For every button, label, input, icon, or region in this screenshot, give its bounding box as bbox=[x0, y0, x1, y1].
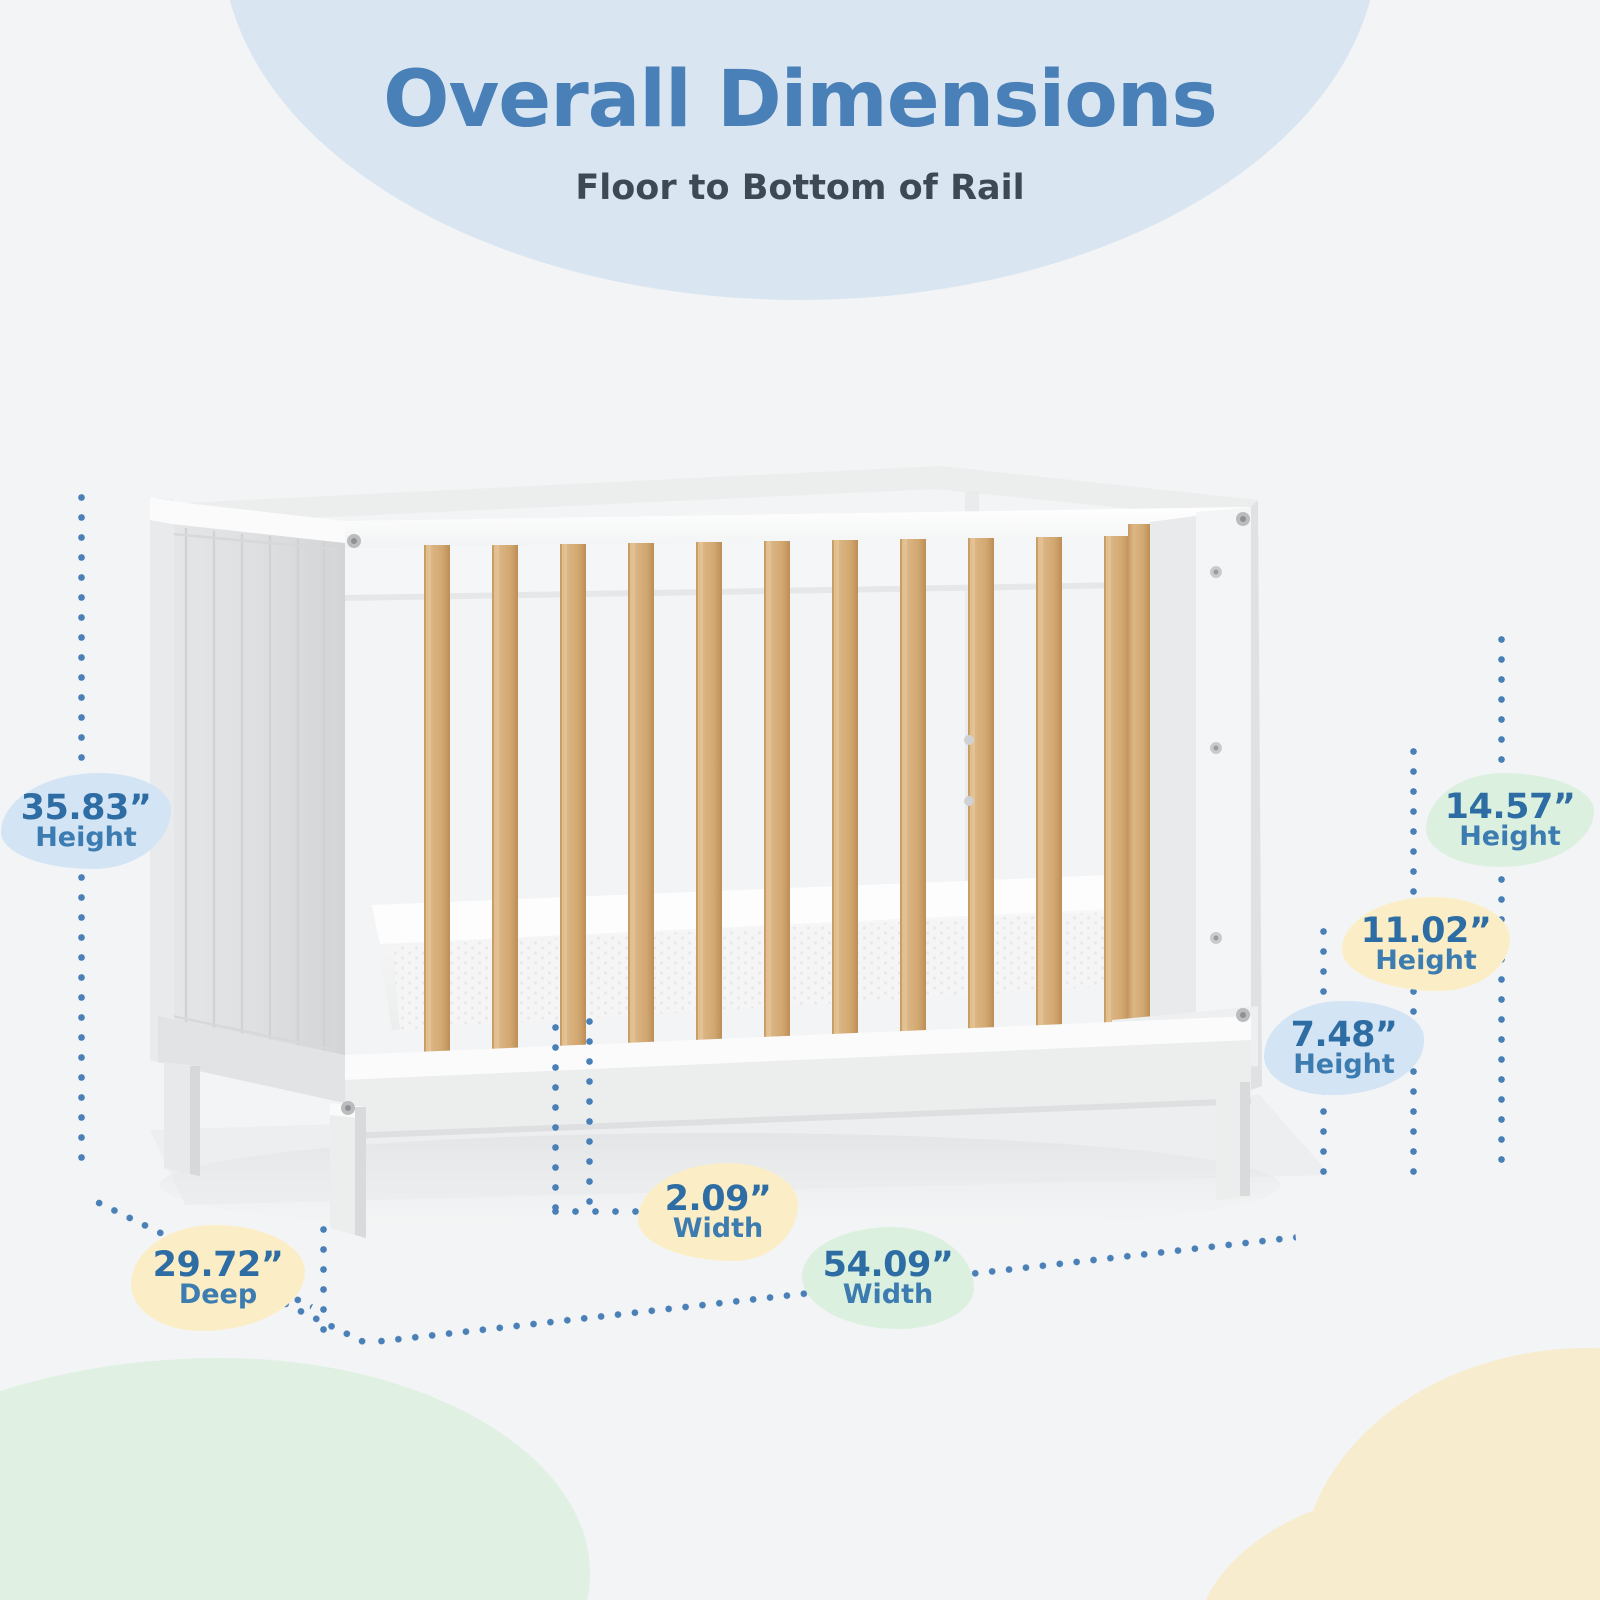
dimension-value: 7.48” bbox=[1291, 1018, 1398, 1053]
dimension-unit: Width bbox=[673, 1215, 764, 1242]
infographic-canvas: Overall Dimensions Floor to Bottom of Ra… bbox=[0, 0, 1600, 1600]
dimension-unit: Height bbox=[1375, 947, 1477, 974]
dimension-unit: Height bbox=[1459, 823, 1561, 850]
dimension-label-overall-depth: 29.72” Deep bbox=[130, 1224, 306, 1332]
dimension-value: 54.09” bbox=[823, 1248, 954, 1283]
dimension-value: 29.72” bbox=[153, 1248, 284, 1283]
dimension-value: 11.02” bbox=[1361, 914, 1492, 949]
dimension-label-height-11-02: 11.02” Height bbox=[1340, 896, 1512, 992]
dimension-label-overall-height: 35.83” Height bbox=[0, 772, 172, 870]
dimension-unit: Deep bbox=[179, 1281, 257, 1308]
dimension-value: 2.09” bbox=[665, 1182, 772, 1217]
crib-product-illustration bbox=[0, 0, 1600, 1600]
dimension-label-height-14-57: 14.57” Height bbox=[1424, 772, 1596, 868]
dimension-label-slat-width: 2.09” Width bbox=[636, 1162, 800, 1262]
dimension-value: 14.57” bbox=[1445, 790, 1576, 825]
dimension-label-overall-width: 54.09” Width bbox=[798, 1226, 978, 1330]
dimension-label-height-7-48: 7.48” Height bbox=[1262, 1000, 1426, 1096]
dimension-unit: Height bbox=[1293, 1051, 1395, 1078]
dimension-value: 35.83” bbox=[21, 791, 152, 826]
dimension-unit: Width bbox=[843, 1281, 934, 1308]
dimension-unit: Height bbox=[35, 824, 137, 851]
